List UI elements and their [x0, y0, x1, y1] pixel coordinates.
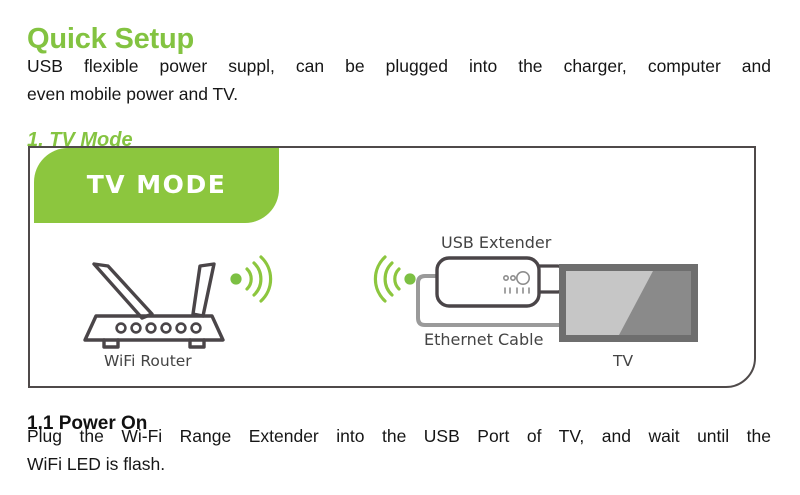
caption-usb-extender: USB Extender — [441, 233, 551, 252]
caption-ethernet-cable: Ethernet Cable — [424, 330, 543, 349]
quick-setup-page: Quick Setup USB flexible power suppl, ca… — [0, 0, 800, 495]
caption-wifi-router: WiFi Router — [104, 352, 192, 370]
step-paragraph: Plug the Wi-Fi Range Extender into the U… — [27, 422, 771, 478]
step-line-2: WiFi LED is flash. — [27, 450, 771, 478]
step-line-1: Plug the Wi-Fi Range Extender into the U… — [27, 422, 771, 450]
intro-line-2: even mobile power and TV. — [27, 80, 771, 108]
caption-tv: TV — [613, 352, 633, 370]
tv-mode-banner-label: TV MODE — [34, 170, 279, 199]
tv-mode-banner: TV MODE — [34, 148, 279, 223]
intro-paragraph: USB flexible power suppl, can be plugged… — [27, 52, 771, 108]
intro-line-1: USB flexible power suppl, can be plugged… — [27, 52, 771, 80]
